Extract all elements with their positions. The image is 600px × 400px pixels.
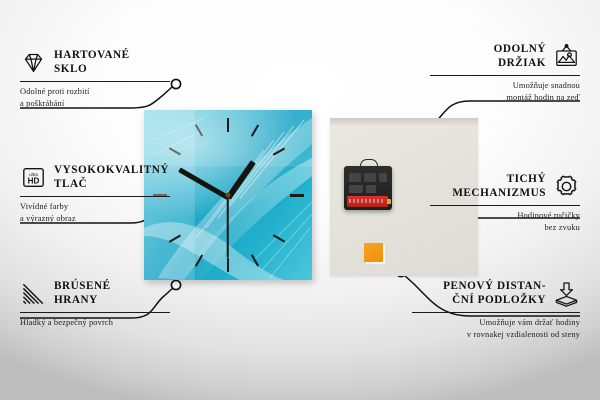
clock-center-cap: [226, 193, 231, 198]
feature-divider: [430, 205, 580, 206]
feature-description: Umožňuje snadnou montáž hodin na zeď: [430, 80, 580, 104]
clock-tick: [227, 258, 229, 272]
clock-second-hand: [227, 196, 229, 258]
feature-description: Hladký a bezpečný povrch: [20, 317, 170, 329]
clock-battery: [347, 196, 388, 207]
feature-silent-mechanism[interactable]: TICHÝ MECHANIZMUS Hodinové ručičky bez z…: [430, 172, 580, 234]
feature-durable-hanger[interactable]: ODOLNÝ DRŽIAK Umožňuje snadnou montáž ho…: [430, 42, 580, 104]
gear-icon: [553, 173, 580, 200]
feature-description: Umožňuje vám držať hodiny v rovnakej vzd…: [412, 317, 580, 341]
feature-description: Vivídné farby a výrazný obraz: [20, 201, 170, 225]
feature-divider: [430, 75, 580, 76]
feature-title: ODOLNÝ DRŽIAK: [494, 42, 546, 71]
feature-description: Odolné proti rozbití a poškrábání: [20, 86, 170, 110]
feature-foam-spacers[interactable]: PENOVÝ DISTAN- ČNÍ PODLOŽKY Umožňuje vám…: [412, 279, 580, 341]
feature-divider: [20, 196, 170, 197]
beveled-edge-icon: [20, 280, 47, 307]
feature-description: Hodinové ručičky bez zvuku: [430, 210, 580, 234]
foam-spacer-pad: [364, 243, 383, 262]
feature-title: BRÚSENÉ HRANY: [54, 279, 111, 308]
feature-divider: [20, 81, 170, 82]
feature-title: HARTOVANÉ SKLO: [54, 48, 130, 77]
feature-divider: [20, 312, 170, 313]
connector-node-tempered-glass: [171, 79, 180, 88]
infographic-canvas: HARTOVANÉ SKLO Odolné proti rozbití a po…: [0, 0, 600, 400]
wall-frame-hanger-icon: [553, 43, 580, 70]
foam-pad-press-icon: [553, 280, 580, 307]
clock-tick: [227, 118, 229, 132]
feature-title: VYSOKOKVALITNÝ TLAČ: [54, 163, 169, 192]
clock-back-panel-edge: [330, 118, 478, 125]
feature-ground-edges[interactable]: BRÚSENÉ HRANY Hladký a bezpečný povrch: [20, 279, 170, 329]
feature-title: TICHÝ MECHANIZMUS: [452, 172, 546, 201]
feature-high-quality-print[interactable]: ultra HD VYSOKOKVALITNÝ TLAČ Vivídné far…: [20, 163, 170, 225]
feature-divider: [412, 312, 580, 313]
feature-title: PENOVÝ DISTAN- ČNÍ PODLOŽKY: [443, 279, 546, 308]
diamond-icon: [20, 49, 47, 76]
clock-tick: [290, 194, 304, 197]
connector-node-edges: [171, 280, 180, 289]
feature-tempered-glass[interactable]: HARTOVANÉ SKLO Odolné proti rozbití a po…: [20, 48, 170, 110]
ultra-hd-icon: ultra HD: [20, 164, 47, 191]
svg-text:HD: HD: [28, 177, 40, 186]
